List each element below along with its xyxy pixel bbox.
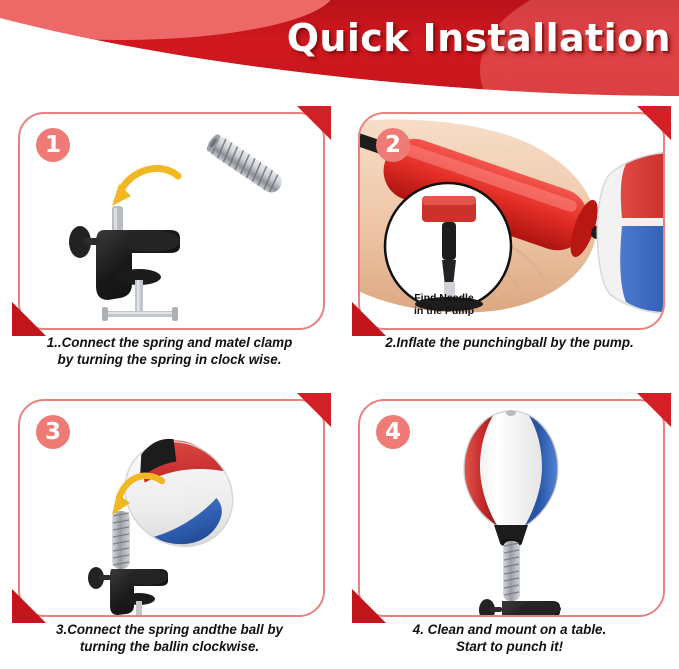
step-panel-2: Find Needle in the Pump 2 2.Inflate the … [340, 96, 679, 382]
step-card-1: 1 [18, 112, 325, 330]
inset-callout-label: Find Needle in the Pump [384, 292, 504, 317]
caption-line: turning the ballin clockwise. [8, 638, 331, 655]
step-badge-3: 3 [36, 415, 70, 449]
inset-label-line: Find Needle [384, 292, 504, 305]
step-panel-4: 4 4. Clean and mount on a table. Start t… [340, 383, 679, 669]
corner-triangle-bottom-left [352, 589, 386, 623]
step-caption-1: 1..Connect the spring and matel clamp by… [8, 334, 331, 368]
step-card-2: Find Needle in the Pump 2 [358, 112, 665, 330]
caption-line: 1..Connect the spring and matel clamp [8, 334, 331, 351]
corner-triangle-bottom-left [12, 589, 46, 623]
step-panel-1: 1 1..Connect the spring and matel clamp … [0, 96, 339, 382]
steps-grid: 1 1..Connect the spring and matel clamp … [0, 96, 679, 669]
step-caption-2: 2.Inflate the punchingball by the pump. [348, 334, 671, 351]
page-title: Quick Installation [287, 16, 671, 60]
step-card-3: 3 [18, 399, 325, 617]
step-badge-2: 2 [376, 128, 410, 162]
step-badge-4: 4 [376, 415, 410, 449]
corner-triangle-top-right [637, 106, 671, 140]
header-banner: Quick Installation [0, 0, 679, 96]
caption-line: Start to punch it! [348, 638, 671, 655]
corner-triangle-top-right [297, 393, 331, 427]
corner-triangle-bottom-left [12, 302, 46, 336]
caption-line: by turning the spring in clock wise. [8, 351, 331, 368]
caption-line: 4. Clean and mount on a table. [348, 621, 671, 638]
step-caption-3: 3.Connect the spring andthe ball by turn… [8, 621, 331, 655]
caption-line: 3.Connect the spring andthe ball by [8, 621, 331, 638]
inset-label-line: in the Pump [384, 305, 504, 318]
corner-triangle-top-right [637, 393, 671, 427]
step-badge-1: 1 [36, 128, 70, 162]
step-panel-3: 3 3.Connect the spring andthe ball by tu… [0, 383, 339, 669]
step-caption-4: 4. Clean and mount on a table. Start to … [348, 621, 671, 655]
corner-triangle-bottom-left [352, 302, 386, 336]
corner-triangle-top-right [297, 106, 331, 140]
caption-line: 2.Inflate the punchingball by the pump. [348, 334, 671, 351]
step-card-4: 4 [358, 399, 665, 617]
